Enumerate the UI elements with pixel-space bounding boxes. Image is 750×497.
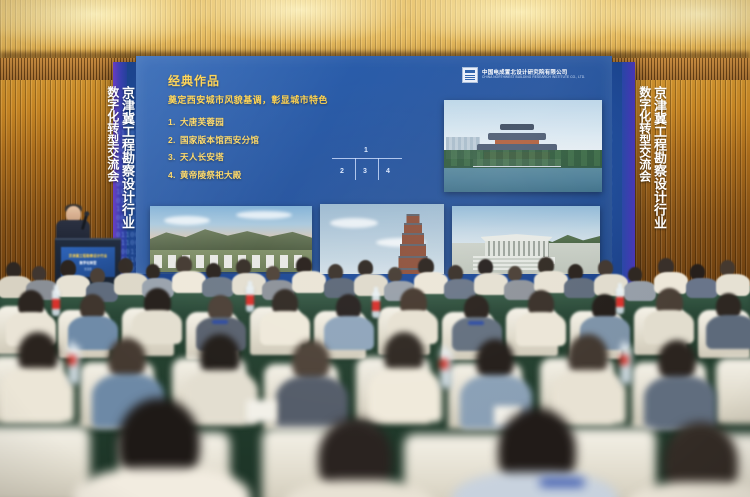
audience-shoulders [368, 368, 442, 422]
banner-left-line2: 数字化转型交流会 [107, 86, 119, 182]
lanyard [468, 321, 484, 325]
audience-head [266, 266, 280, 281]
water-bottle [52, 290, 60, 316]
audience-shoulders [624, 281, 656, 301]
list-item-number: 3. [168, 152, 180, 162]
audience-shoulders [552, 370, 626, 424]
lanyard [540, 478, 584, 487]
slide-subtitle: 奠定西安城市风貌基调，彰显城市特色 [168, 93, 328, 106]
projected-slide: 经典作品 奠定西安城市风貌基调，彰显城市特色 1.大唐芙蓉园 2.国家版本馆西安… [136, 56, 612, 274]
banner-left-line1: 京津冀工程勘察设计行业 [121, 86, 134, 229]
company-logo: 中国电成置北设计研究院有限公司 CHINA NORTHWEST BUILDING… [462, 67, 585, 83]
company-name-en: CHINA NORTHWEST BUILDING RESEARCH INSTIT… [482, 76, 585, 80]
list-item-number: 2. [168, 135, 180, 145]
pavilion-roof-top [500, 124, 534, 130]
list-item-label: 天人长安塔 [180, 152, 224, 162]
slide-photo-tang-paradise [444, 100, 602, 192]
audience-head [118, 258, 133, 274]
photo-cloud [236, 211, 292, 219]
diagram-horizontal-bar [332, 158, 402, 159]
conference-photo: 10011010 01101001 11010011 00101101 1011… [0, 0, 750, 497]
audience-shoulders [68, 316, 118, 350]
list-item-label: 国家版本馆西安分馆 [180, 135, 259, 145]
audience-shoulders [202, 277, 234, 297]
list-item-number: 1. [168, 117, 180, 127]
audience-shoulders [132, 310, 182, 344]
chair-back [716, 358, 750, 424]
diagram-label-child: 4 [386, 168, 390, 175]
photo-water-reflection [444, 168, 602, 192]
water-bottle [440, 350, 452, 388]
audience-shoulders [564, 278, 596, 298]
list-item: 3.天人长安塔 [168, 151, 259, 163]
audience-shoulders [56, 275, 90, 297]
company-logo-text: 中国电成置北设计研究院有限公司 CHINA NORTHWEST BUILDING… [482, 70, 585, 80]
audience-shoulders [260, 311, 310, 345]
banner-right-line2: 数字化转型交流会 [639, 86, 651, 182]
audience-shoulders [516, 312, 566, 346]
water-bottle [68, 346, 80, 384]
water-bottle [246, 286, 254, 312]
bracket-diagram: 1 2 3 4 [332, 146, 402, 182]
lanyard [212, 320, 228, 324]
company-logo-icon [462, 67, 478, 83]
audience [0, 250, 750, 497]
audience-head [388, 267, 402, 282]
list-item: 4.黄帝陵祭祀大殿 [168, 169, 259, 181]
hall-roof [481, 234, 553, 241]
slide-title: 经典作品 [168, 72, 220, 89]
diagram-label-child: 2 [340, 168, 344, 175]
audience-shoulders [706, 315, 750, 349]
water-bottle [620, 346, 632, 384]
audience-shoulders [292, 271, 326, 293]
diagram-stem [378, 158, 379, 180]
photo-cloud [330, 218, 378, 228]
audience-shoulders [644, 310, 694, 344]
diagram-label-top: 1 [364, 147, 368, 154]
photo-cloud [164, 216, 210, 225]
list-item-number: 4. [168, 170, 180, 180]
audience-shoulders [686, 278, 718, 298]
photo-treeline [444, 150, 602, 166]
slide-bullet-list: 1.大唐芙蓉园 2.国家版本馆西安分馆 3.天人长安塔 4.黄帝陵祭祀大殿 [168, 116, 259, 186]
list-item: 1.大唐芙蓉园 [168, 116, 259, 128]
water-bottle [616, 288, 624, 314]
audience-shoulders [0, 368, 74, 422]
audience-shoulders [324, 316, 374, 350]
list-item-label: 黄帝陵祭祀大殿 [180, 170, 242, 180]
list-item: 2.国家版本馆西安分馆 [168, 134, 259, 146]
pavilion-roof-mid [488, 133, 546, 140]
audience-shoulders [354, 274, 388, 296]
diagram-stem [355, 158, 356, 180]
audience-shoulders [716, 274, 750, 296]
audience-head [508, 266, 522, 281]
audience-shoulders [474, 273, 508, 295]
diagram-label-child: 3 [363, 168, 367, 175]
audience-shoulders [172, 271, 206, 293]
audience-head [628, 267, 642, 282]
banner-right-line1: 京津冀工程勘察设计行业 [653, 86, 666, 229]
water-bottle [372, 292, 380, 318]
list-item-label: 大唐芙蓉园 [180, 117, 224, 127]
handout-paper [246, 400, 276, 422]
audience-head [32, 266, 46, 281]
audience-head [146, 264, 160, 279]
